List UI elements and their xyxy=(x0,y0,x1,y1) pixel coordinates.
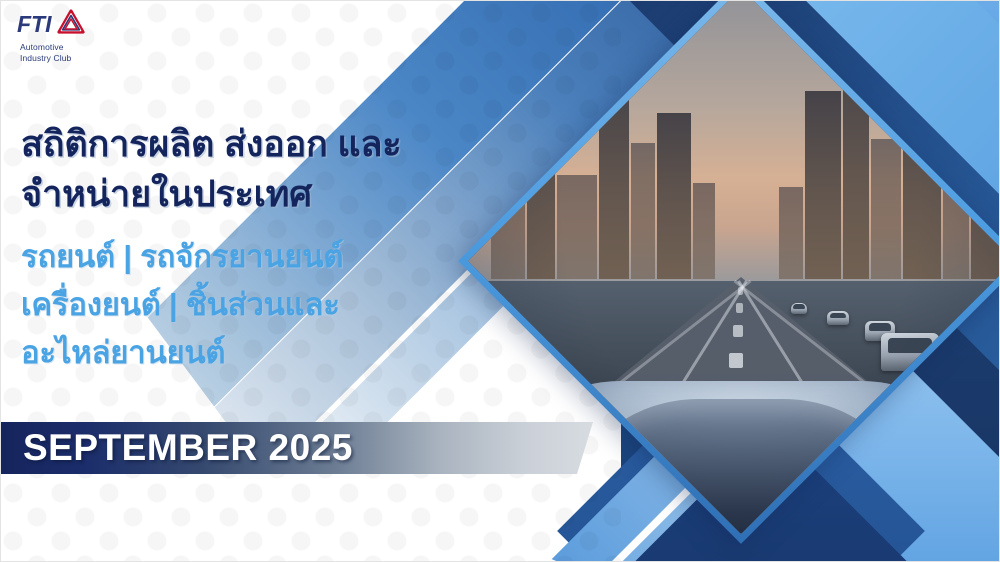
fti-logo-subtitle-line1: Automotive xyxy=(20,42,137,53)
subheadline-line-3: อะไหล่ยานยนต์ xyxy=(21,329,581,377)
headline-line-2: จำหน่ายในประเทศ xyxy=(21,169,581,219)
fti-logo-row: FTI xyxy=(17,9,137,39)
fti-triangle-icon xyxy=(56,8,86,41)
date-ribbon: SEPTEMBER 2025 xyxy=(1,422,593,474)
fti-logo-subtitle-line2: Industry Club xyxy=(20,53,137,64)
headline-line-1: สถิติการผลิต ส่งออก และ xyxy=(21,119,581,169)
subheadline-line-2: เครื่องยนต์ | ชิ้นส่วนและ xyxy=(21,281,581,329)
cover-artboard: FTI Automotive Industry Club สถิติการผลิ… xyxy=(0,0,1000,562)
subheadline-line-1: รถยนต์ | รถจักรยานยนต์ xyxy=(21,233,581,281)
subheadline: รถยนต์ | รถจักรยานยนต์ เครื่องยนต์ | ชิ้… xyxy=(21,233,581,377)
fti-wordmark: FTI xyxy=(17,13,52,36)
fti-logo-subtitle: Automotive Industry Club xyxy=(20,42,137,64)
date-ribbon-label: SEPTEMBER 2025 xyxy=(23,427,353,469)
headline: สถิติการผลิต ส่งออก และ จำหน่ายในประเทศ xyxy=(21,119,581,219)
text-column: FTI Automotive Industry Club สถิติการผลิ… xyxy=(1,1,601,562)
fti-logo[interactable]: FTI Automotive Industry Club xyxy=(17,9,137,64)
